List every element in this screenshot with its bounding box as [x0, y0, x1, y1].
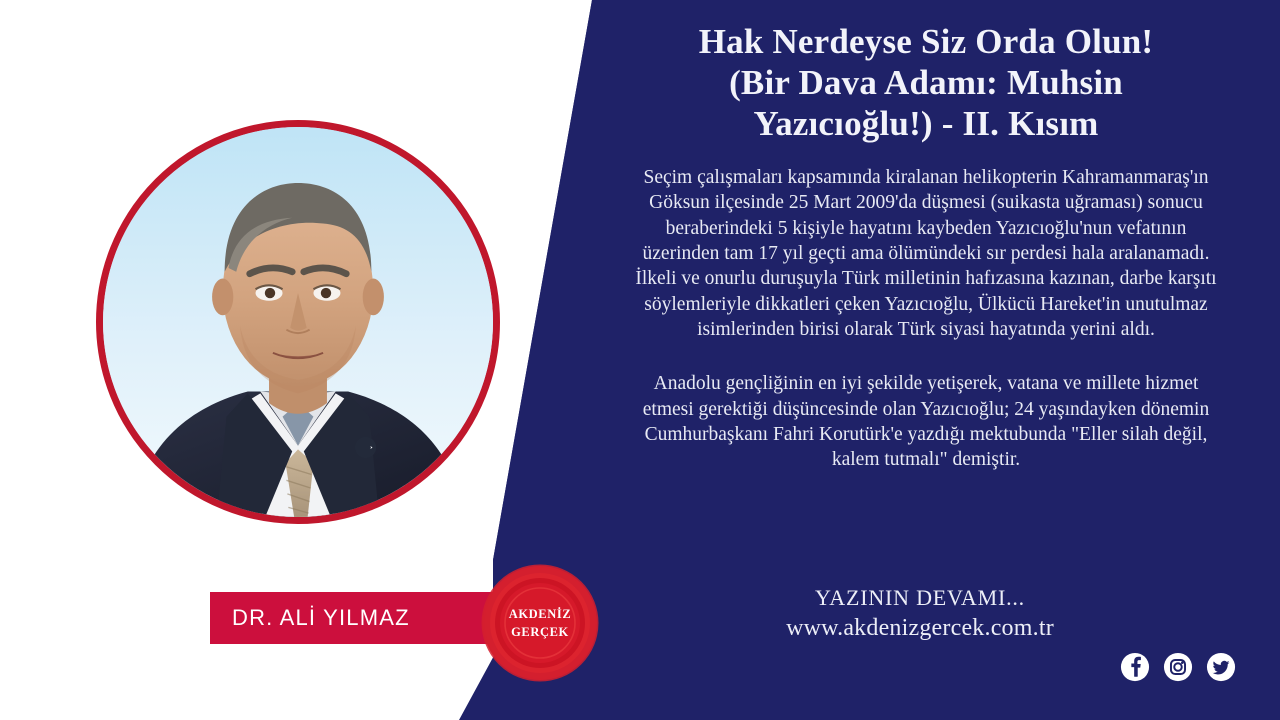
- facebook-icon[interactable]: [1120, 652, 1150, 682]
- website-link[interactable]: www.akdenizgercek.com.tr: [600, 615, 1240, 642]
- seal-shape: [480, 563, 600, 683]
- article-paragraph-2: Anadolu gençliğinin en iyi şekilde yetiş…: [600, 371, 1240, 472]
- continue-label: YAZININ DEVAMI...: [600, 585, 1240, 611]
- article-content: Hak Nerdeyse Siz Orda Olun! (Bir Dava Ad…: [600, 0, 1240, 720]
- title-line-3: Yazıcıoğlu!) - II. Kısım: [753, 104, 1098, 143]
- portrait-illustration: [103, 127, 493, 517]
- author-portrait: [96, 120, 500, 524]
- article-paragraph-1: Seçim çalışmaları kapsamında kiralanan h…: [600, 165, 1240, 342]
- instagram-icon[interactable]: [1163, 652, 1193, 682]
- twitter-icon[interactable]: [1206, 652, 1236, 682]
- title-line-2: (Bir Dava Adamı: Muhsin: [729, 63, 1123, 102]
- poster-canvas: DR. ALİ YILMAZ AKDENİZ GERÇEK Hak Nerdey…: [0, 0, 1280, 720]
- brand-seal-badge[interactable]: AKDENİZ GERÇEK: [480, 563, 600, 683]
- social-links: [1120, 652, 1236, 682]
- page-title: Hak Nerdeyse Siz Orda Olun! (Bir Dava Ad…: [600, 0, 1240, 145]
- author-name-label: DR. ALİ YILMAZ: [210, 605, 410, 631]
- title-line-1: Hak Nerdeyse Siz Orda Olun!: [699, 22, 1154, 61]
- footer-block: YAZININ DEVAMI... www.akdenizgercek.com.…: [600, 585, 1240, 642]
